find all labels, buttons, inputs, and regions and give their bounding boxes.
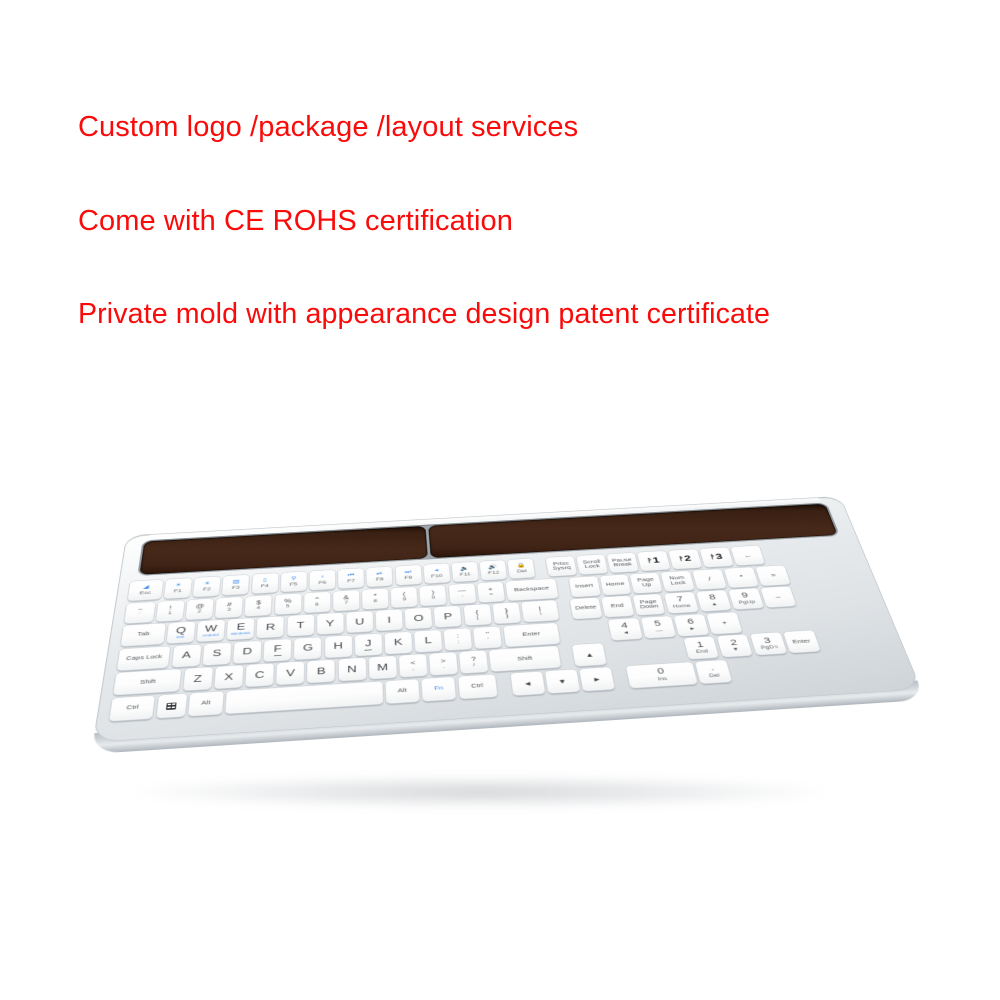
key-legend-bottom: Up [642,582,652,587]
previous-track-icon: ⏮ [348,573,355,578]
bluetooth-icon: ᚹ2 [678,555,693,564]
key-f7[interactable]: ⏮F7 [338,568,364,588]
key-legend: F5 [290,582,298,587]
volume-down-icon: 🔉 [460,566,470,571]
key-home[interactable]: Home [599,574,631,595]
key-legend: 2 [683,555,692,563]
key-numpad-multiply[interactable]: * [724,567,759,588]
key-legend: F3 [232,586,240,591]
marketing-copy: Custom logo /package /layout services Co… [78,112,988,330]
bluetooth-icon: ᚹ1 [646,557,660,566]
key-legend-platform: Android [202,634,219,638]
key-digit-0[interactable]: )0 [420,585,447,606]
key-legend-secondary: End [696,650,709,656]
key-period[interactable]: >. [429,652,458,675]
key-gap [561,645,573,667]
key-legend-bottom: Lock [670,580,686,586]
key-numpad-3[interactable]: 3PgDn [750,633,787,656]
key-legend-base: 6 [315,603,319,608]
key-legend-primary: 3 [763,637,772,646]
key-legend-shifted: ? [471,656,477,663]
key-legend-base: = [489,593,493,598]
key-legend: Z [193,674,202,684]
key-pause-break[interactable]: PauseBreak [607,553,639,573]
key-back[interactable]: ← [731,546,765,566]
home-row: Caps LockASDFGHJKL:;"'Enter4◄5—6►+ [117,604,881,671]
key-legend: N [347,665,357,675]
key-numpad-2[interactable]: 2▼ [717,635,754,658]
tablet-icon: ▧ [232,579,239,584]
play-pause-icon: ⏯ [376,571,382,576]
brightness-down-icon: ◢ [143,585,150,590]
marketing-line-3: Private mold with appearance design pate… [78,299,988,329]
key-legend-base: . [443,665,445,670]
key-legend: C [255,670,265,680]
key-legend: Enter [792,639,811,645]
key-numpad-plus[interactable]: + [707,612,743,634]
key-legend: 1 [652,557,661,565]
phone-icon: ▯ [263,578,267,583]
key-legend-secondary: ▲ [711,602,719,607]
key-scroll-lock[interactable]: ScrollLock [576,554,607,574]
brightness-up-icon: ☀ [204,581,211,586]
key-end[interactable]: End [601,596,634,618]
key-legend-primary: 1 [696,641,705,650]
key-legend: Home [605,582,625,588]
key-numpad-enter[interactable]: Enter [783,631,820,654]
key-legend: Tab [137,632,150,638]
key-legend: = [770,572,777,578]
key-legend-base: 0 [431,596,435,601]
key-key-n[interactable]: N [338,658,366,681]
key-legend-shifted: < [410,660,415,667]
key-legend: F10 [431,574,443,579]
key-legend: F1 [173,589,181,594]
key-legend-bottom: Break [613,562,632,568]
key-legend: V [286,668,295,678]
key-numpad-equals[interactable]: = [756,565,791,586]
search-icon: ⚲ [291,576,297,581]
key-bluetooth-3[interactable]: ᚹ3 [700,547,734,567]
key-legend: Shift [140,679,156,685]
key-legend: / [708,576,712,582]
keyboard-body: ◢Esc☀F1☀F2▧F3▯F4⚲F5♀F6⏮F7⏯F8⏭F9◂F10🔉F11🔊… [93,496,922,743]
key-f12[interactable]: 🔊F12 [480,560,508,580]
key-numpad-minus[interactable]: – [760,586,796,607]
key-legend-base: / [473,663,475,668]
key-f10[interactable]: ◂F10 [423,563,450,583]
key-delete[interactable]: Delete [570,598,602,620]
key-legend: Ctrl [471,683,484,689]
key-f2[interactable]: ☀F2 [193,576,221,597]
key-f9[interactable]: ⏭F9 [395,565,422,585]
home-position-marker [365,649,372,650]
key-arrow-up[interactable]: ▲ [572,643,607,666]
key-numpad-1[interactable]: 1End [683,637,719,660]
key-legend-base: , [412,667,414,672]
key-f3[interactable]: ▧F3 [222,575,249,596]
key-f6[interactable]: ♀F6 [309,570,335,591]
key-gap [606,639,685,665]
key-backspace[interactable]: Backspace [505,578,558,600]
key-legend: Backspace [514,586,550,593]
marketing-line-1: Custom logo /package /layout services [78,112,988,143]
key-key-v[interactable]: V [276,662,304,686]
key-digit-7[interactable]: &7 [333,590,359,611]
key-legend: B [317,666,326,676]
key-legend-shifted: > [440,658,446,665]
volume-up-icon: 🔊 [488,565,498,570]
key-f5[interactable]: ⚲F5 [280,571,306,592]
product-promo-image: Custom logo /package /layout services Co… [0,0,1000,1000]
key-key-z[interactable]: Z [183,667,213,691]
key-page-up[interactable]: PageUp [630,572,662,593]
key-del-lock[interactable]: 🔒Del [508,559,536,579]
key-legend: F2 [203,587,211,592]
product-keyboard: ◢Esc☀F1☀F2▧F3▯F4⚲F5♀F6⏮F7⏯F8⏭F9◂F10🔉F11🔊… [92,432,922,822]
key-shift-right[interactable]: Shift [489,646,561,672]
key-key-b[interactable]: B [307,660,335,684]
key-key-m[interactable]: M [369,656,397,679]
key-legend: F11 [460,572,471,577]
lock-icon: 🔒 [516,563,526,568]
key-legend: F9 [404,576,412,581]
key-comma[interactable]: <, [399,654,427,677]
key-legend-primary: 2 [729,639,738,648]
key-digit-8[interactable]: *8 [362,588,389,609]
key-legend-secondary: PgUp [738,600,756,606]
key-legend: Del [517,569,528,574]
key-legend: F8 [376,577,384,582]
key-gap [536,558,547,577]
key-legend: P [443,612,452,621]
key-legend-secondary: Home [673,604,692,610]
key-digit-9[interactable]: (9 [391,586,418,607]
key-legend: 3 [715,553,724,561]
key-legend: F12 [488,571,500,576]
key-insert[interactable]: Insert [569,576,601,597]
key-legend-secondary: ▼ [732,648,740,653]
key-bluetooth-1[interactable]: ᚹ1 [637,551,670,571]
key-legend: Shift [517,656,533,662]
key-key-x[interactable]: X [214,665,243,689]
key-num-lock[interactable]: NumLock [661,571,695,592]
key-legend: F6 [318,581,326,586]
marketing-line-2: Come with CE ROHS certification [78,206,988,237]
next-track-icon: ⏭ [404,569,411,574]
key-alt-left[interactable]: Alt [188,691,224,716]
key-legend-primary: 0 [657,668,666,677]
key-legend-bottom: Sysrq [552,566,571,572]
key-legend-bottom: Lock [585,564,601,569]
key-legend-secondary: PgDn [760,645,778,651]
brightness-icon: ☀ [175,583,182,588]
key-legend-base: 7 [344,601,348,606]
key-legend: ▲ [585,652,595,659]
key-legend-base: 9 [403,598,407,603]
key-legend: * [739,574,744,580]
key-prtsc-sysrq[interactable]: PrtscSysrq [546,556,577,576]
volume-mute-icon: ◂ [434,568,438,573]
key-legend: ← [743,553,753,559]
key-f4[interactable]: ▯F4 [251,573,278,594]
key-numpad-9[interactable]: 9PgUp [728,588,763,609]
key-slash[interactable]: ?/ [459,651,488,674]
key-shift-left[interactable]: Shift [113,669,181,695]
key-legend-base: - [461,594,464,599]
key-legend: R [266,622,276,632]
key-f1[interactable]: ☀F1 [164,578,192,599]
key-legend: Insert [575,583,594,589]
key-legend: F7 [347,579,355,584]
key-legend: F4 [261,584,269,589]
key-minus[interactable]: —- [448,583,476,604]
key-f11[interactable]: 🔉F11 [451,562,478,582]
person-icon: ♀ [320,574,326,579]
key-legend: X [224,672,234,682]
key-equals[interactable]: += [477,581,505,602]
key-key-c[interactable]: C [245,664,274,688]
key-esc[interactable]: ◢Esc [128,580,163,601]
key-gap [558,578,569,598]
key-numpad-divide[interactable]: / [693,569,727,590]
key-bluetooth-2[interactable]: ᚹ2 [668,549,702,569]
home-position-marker [274,655,281,656]
bluetooth-icon: ᚹ3 [709,553,724,562]
key-legend: Esc [139,591,151,596]
key-f8[interactable]: ⏯F8 [367,567,393,587]
key-numpad-7[interactable]: 7Home [664,592,699,614]
windows-logo-icon [166,702,177,710]
key-legend-base: 8 [374,600,378,605]
key-legend: – [775,594,781,600]
